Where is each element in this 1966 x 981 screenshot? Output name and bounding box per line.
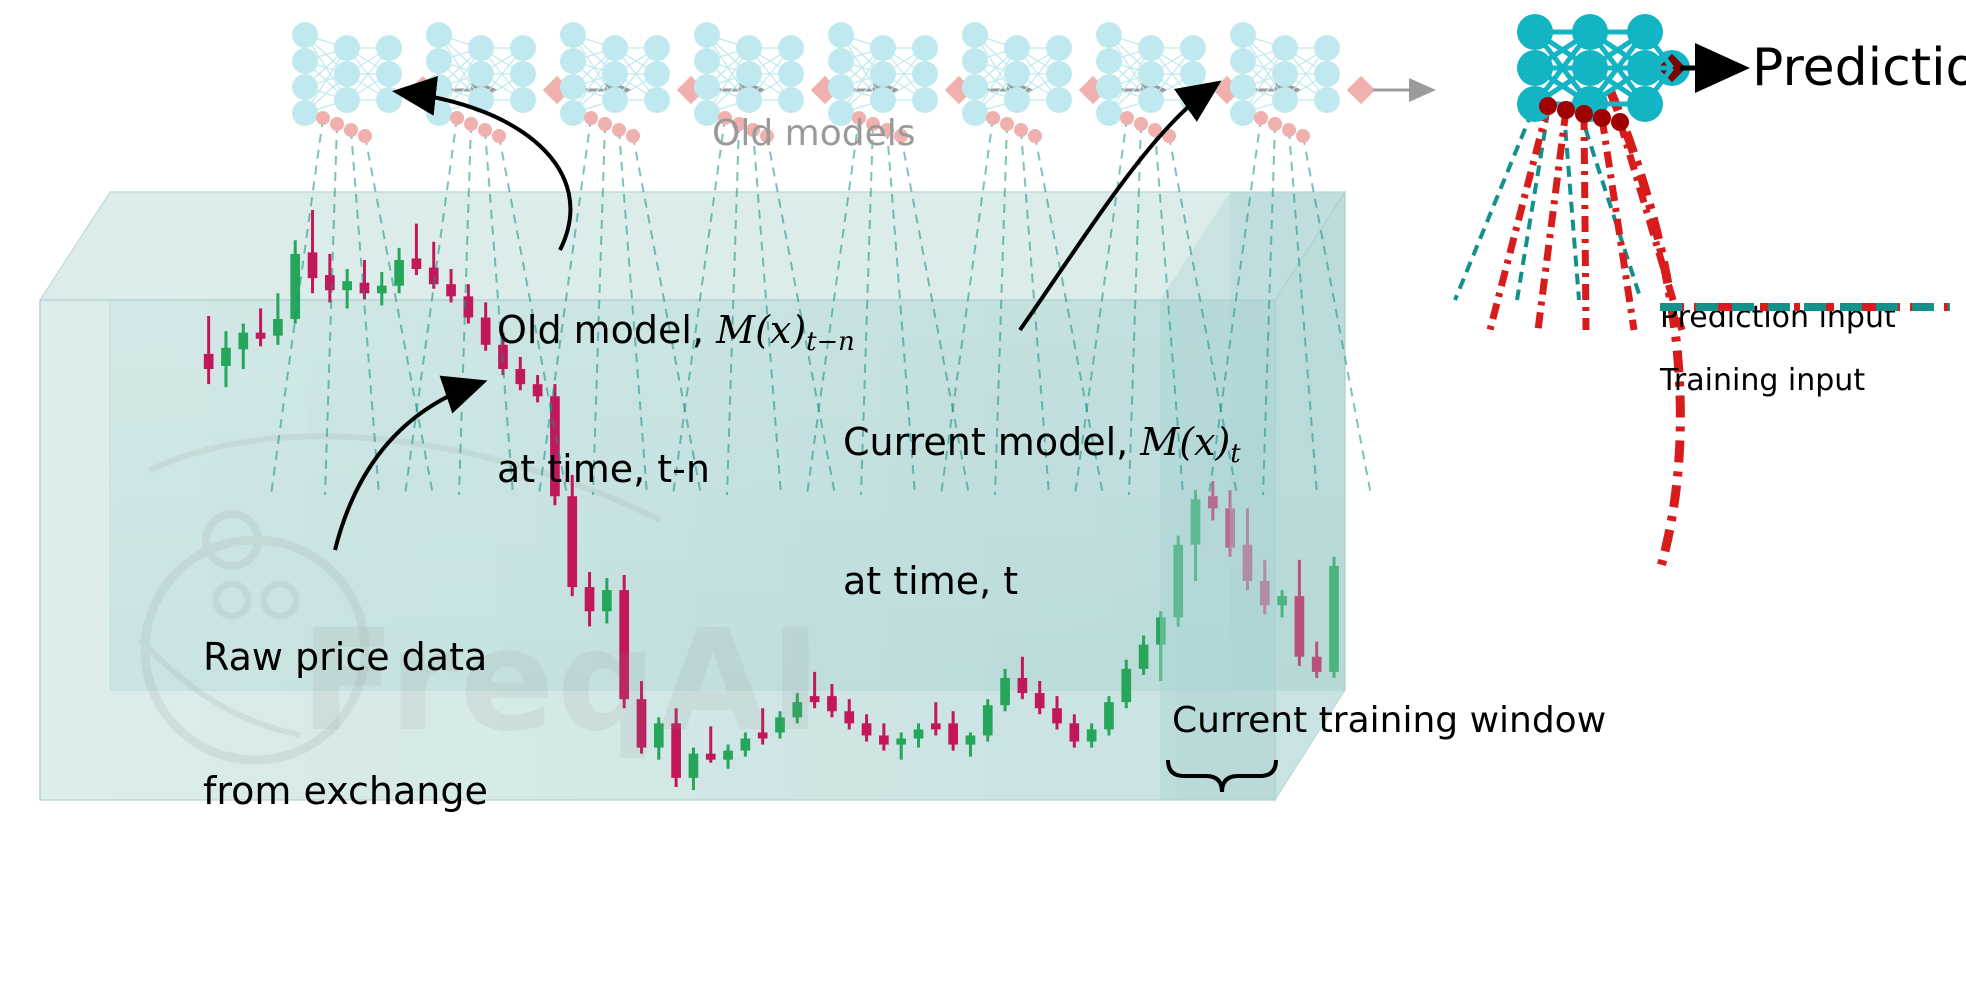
network-node: [1230, 100, 1256, 126]
model-input-dot: [612, 123, 626, 137]
network-node: [1096, 48, 1122, 74]
network-node: [736, 35, 762, 61]
current-training-window-label: Current training window: [1172, 700, 1606, 741]
network-node: [560, 74, 586, 100]
network-node: [1230, 74, 1256, 100]
network-node: [962, 48, 988, 74]
network-node: [1272, 87, 1298, 113]
network-node: [778, 61, 804, 87]
network-node: [376, 35, 402, 61]
prediction-input-dot: [1611, 113, 1629, 131]
current-network-node: [1572, 14, 1608, 50]
network-node: [962, 74, 988, 100]
candle-body: [238, 333, 248, 350]
model-input-dot: [986, 111, 1000, 125]
current-model-symbol: M(x): [1140, 420, 1230, 464]
figure-canvas: FreqAI Old models Prediction Old model, …: [0, 0, 1966, 981]
network-node: [292, 22, 318, 48]
network-node: [510, 87, 536, 113]
candle-body: [412, 258, 422, 269]
network-node: [602, 35, 628, 61]
network-node: [1046, 61, 1072, 87]
candle-body: [966, 735, 976, 744]
network-node: [510, 61, 536, 87]
network-node: [376, 61, 402, 87]
current-network-node: [1572, 50, 1608, 86]
raw-price-line-1: Raw price data: [203, 635, 488, 680]
network-node: [1096, 74, 1122, 100]
network-node: [1096, 100, 1122, 126]
model-input-dot: [1000, 117, 1014, 131]
model-input-dot: [330, 117, 344, 131]
network-node: [426, 48, 452, 74]
network-node: [1004, 87, 1030, 113]
network-node: [644, 35, 670, 61]
candle-body: [377, 286, 387, 294]
current-network-node: [1517, 50, 1553, 86]
network-node: [870, 87, 896, 113]
candle-body: [1052, 708, 1062, 723]
network-node: [694, 48, 720, 74]
network-node: [334, 87, 360, 113]
prediction-input-line: [1538, 110, 1566, 330]
network-node: [962, 22, 988, 48]
candle-body: [914, 729, 924, 738]
network-node: [778, 35, 804, 61]
network-node: [426, 100, 452, 126]
network-node: [1272, 61, 1298, 87]
legend-swatch-training-input: [1660, 300, 1960, 314]
network-node: [292, 74, 318, 100]
network-node: [560, 48, 586, 74]
model-input-dot: [492, 129, 506, 143]
network-node: [510, 35, 536, 61]
candle-body: [273, 319, 283, 336]
candle-body: [896, 739, 906, 745]
model-input-dot: [358, 129, 372, 143]
network-node: [1230, 48, 1256, 74]
candle-body: [308, 252, 318, 278]
network-node: [694, 22, 720, 48]
network-node: [1272, 35, 1298, 61]
model-output-diamond: [1347, 76, 1375, 104]
network-node: [828, 48, 854, 74]
candle-body: [290, 254, 300, 319]
network-node: [602, 61, 628, 87]
network-node: [1230, 22, 1256, 48]
network-node: [1180, 61, 1206, 87]
network-node: [1046, 87, 1072, 113]
old-model-annotation-time: at time, t-n: [497, 447, 855, 492]
network-node: [870, 35, 896, 61]
network-node: [468, 35, 494, 61]
network-node: [1314, 87, 1340, 113]
candle-body: [1346, 566, 1356, 572]
network-node: [560, 100, 586, 126]
model-input-dot: [1120, 111, 1134, 125]
network-node: [912, 87, 938, 113]
current-model-annotation: Current model, M(x)t at time, t: [843, 330, 1241, 694]
model-input-dot: [626, 129, 640, 143]
candle-body: [1035, 693, 1045, 708]
candle-body: [360, 283, 370, 294]
candle-body: [827, 696, 837, 711]
model-input-dot: [1014, 123, 1028, 137]
candle-body: [204, 354, 214, 369]
legend-label-training-input: Training input: [1660, 363, 1960, 398]
old-model-symbol: M(x): [716, 308, 806, 352]
network-node: [1138, 87, 1164, 113]
prediction-input-dot: [1539, 97, 1557, 115]
network-node: [1096, 22, 1122, 48]
network-node: [1046, 35, 1072, 61]
old-model-annotation-text: Old model,: [497, 308, 716, 352]
network-node: [602, 87, 628, 113]
current-model-symbol-subscript: t: [1230, 439, 1240, 469]
model-input-dot: [344, 123, 358, 137]
candle-body: [879, 735, 889, 744]
network-node: [736, 61, 762, 87]
network-node: [1314, 61, 1340, 87]
candle-body: [394, 260, 404, 286]
network-node: [334, 61, 360, 87]
network-node: [644, 61, 670, 87]
network-node: [828, 74, 854, 100]
current-model-annotation-text: Current model,: [843, 420, 1140, 464]
network-node: [1138, 35, 1164, 61]
network-node: [694, 74, 720, 100]
old-model-annotation: Old model, M(x)t−n at time, t-n: [497, 218, 855, 582]
model-input-dot: [1134, 117, 1148, 131]
legend: Prediction input Training input: [1660, 300, 1960, 398]
model-input-dot: [598, 117, 612, 131]
network-node: [912, 61, 938, 87]
model-input-dot: [1028, 129, 1042, 143]
candle-body: [983, 705, 993, 735]
network-node: [1004, 61, 1030, 87]
network-node: [1138, 61, 1164, 87]
model-input-dot: [1268, 117, 1282, 131]
network-node: [870, 61, 896, 87]
network-node: [292, 100, 318, 126]
prediction-input-dot: [1575, 105, 1593, 123]
prediction-input-dot: [1593, 109, 1611, 127]
current-network-node: [1517, 14, 1553, 50]
candle-body: [844, 711, 854, 723]
network-node: [644, 87, 670, 113]
current-model-annotation-time: at time, t: [843, 559, 1241, 604]
model-input-dot: [1296, 129, 1310, 143]
legend-item-training-input: Training input: [1660, 363, 1960, 398]
candle-body: [948, 723, 958, 744]
model-input-dot: [316, 111, 330, 125]
candle-body: [862, 723, 872, 735]
candle-body: [221, 348, 231, 366]
prediction-input-dot: [1557, 101, 1575, 119]
old-models-label: Old models: [712, 113, 915, 154]
model-input-dot: [1254, 111, 1268, 125]
raw-price-annotation: Raw price data from exchange: [203, 545, 488, 904]
network-node: [292, 48, 318, 74]
model-input-dot: [1282, 123, 1296, 137]
current-model-network: [1517, 14, 1690, 131]
candle-body: [256, 333, 266, 339]
model-input-dot: [584, 111, 598, 125]
prediction-label: Prediction: [1752, 38, 1966, 98]
network-node: [912, 35, 938, 61]
candle-body: [342, 281, 352, 290]
network-node: [426, 22, 452, 48]
network-node: [560, 22, 586, 48]
candle-body: [446, 284, 456, 296]
network-node: [1180, 35, 1206, 61]
candle-body: [481, 318, 491, 345]
model-input-dot: [478, 123, 492, 137]
candle-body: [1104, 702, 1114, 729]
training-input-line-current: [1564, 112, 1579, 300]
candle-body: [1069, 723, 1079, 741]
prediction-input-line: [1584, 114, 1586, 330]
network-node: [962, 100, 988, 126]
candle-body: [325, 275, 335, 290]
model-input-dot: [450, 111, 464, 125]
candle-body: [1087, 729, 1097, 741]
raw-price-line-2: from exchange: [203, 769, 488, 814]
network-node: [736, 87, 762, 113]
model-input-dot: [464, 117, 478, 131]
network-node: [828, 22, 854, 48]
network-node: [778, 87, 804, 113]
candle-body: [931, 723, 941, 729]
network-node: [334, 35, 360, 61]
network-node: [468, 61, 494, 87]
network-node: [1004, 35, 1030, 61]
network-node: [376, 87, 402, 113]
network-node: [1314, 35, 1340, 61]
